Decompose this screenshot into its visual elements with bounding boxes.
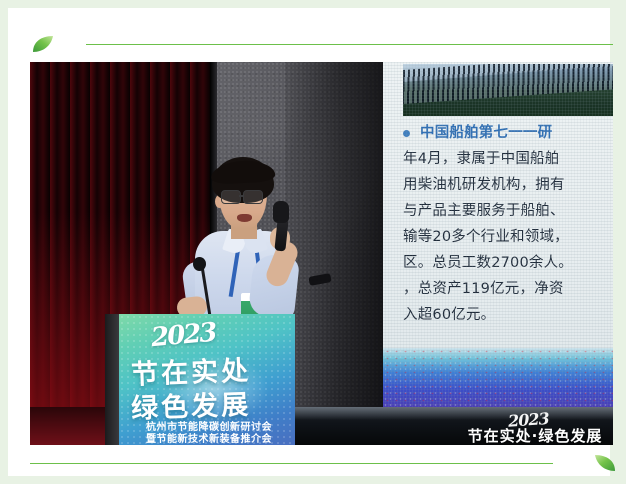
speaker-mouth <box>237 214 252 222</box>
content-card: 中国船舶第七一一研 年4月，隶属于中国船舶 用柴油机研发机构，拥有 与产品主要服… <box>8 8 610 476</box>
glasses-lens-left <box>221 190 241 204</box>
podium-microphone-head <box>193 257 206 271</box>
page-frame: 中国船舶第七一一研 年4月，隶属于中国船舶 用柴油机研发机构，拥有 与产品主要服… <box>0 0 626 484</box>
slide-image-structure <box>403 64 613 104</box>
podium-subtitle-line2: 暨节能新技术新装备推介会 <box>127 430 291 445</box>
event-photo: 中国船舶第七一一研 年4月，隶属于中国船舶 用柴油机研发机构，拥有 与产品主要服… <box>30 62 613 445</box>
slide-heading: 中国船舶第七一一研 <box>403 120 613 146</box>
handheld-microphone-head <box>273 201 289 223</box>
slide-footer-texture <box>383 348 613 407</box>
glasses-lens-right <box>243 190 263 204</box>
presentation-clicker <box>308 273 331 286</box>
slide-line: 用柴油机研发机构，拥有 <box>403 172 613 198</box>
slide-line: ，总资产119亿元，净资 <box>403 276 613 302</box>
slide-line: 入超60亿元。 <box>403 302 613 328</box>
glasses-bridge <box>239 195 243 197</box>
slide-heading-text: 中国船舶第七一一研 <box>420 125 552 141</box>
stage-slogan: 节在实处·绿色发展 <box>460 425 610 445</box>
slide-line: 输等20多个行业和领域， <box>403 224 613 250</box>
podium-side-edge <box>105 314 119 445</box>
divider-bottom <box>30 463 553 464</box>
slide-line: 年4月，隶属于中国船舶 <box>403 146 613 172</box>
slide-header-image <box>403 64 613 116</box>
leaf-icon <box>594 454 616 472</box>
projection-screen: 中国船舶第七一一研 年4月，隶属于中国船舶 用柴油机研发机构，拥有 与产品主要服… <box>383 62 613 407</box>
slide-text-block: 中国船舶第七一一研 年4月，隶属于中国船舶 用柴油机研发机构，拥有 与产品主要服… <box>403 120 613 328</box>
slide-line: 区。总员工数2700余人。 <box>403 250 613 276</box>
slide-line: 与产品主要服务于船舶、 <box>403 198 613 224</box>
leaf-icon <box>32 35 54 53</box>
bullet-icon <box>403 130 410 137</box>
speaker-figure <box>175 157 340 337</box>
podium: 2023 节在实处 绿色发展 杭州市节能降碳创新研讨会 暨节能新技术新装备推介会 <box>105 314 295 445</box>
speaker-hair-fringe <box>210 159 275 184</box>
divider-top <box>86 44 613 45</box>
